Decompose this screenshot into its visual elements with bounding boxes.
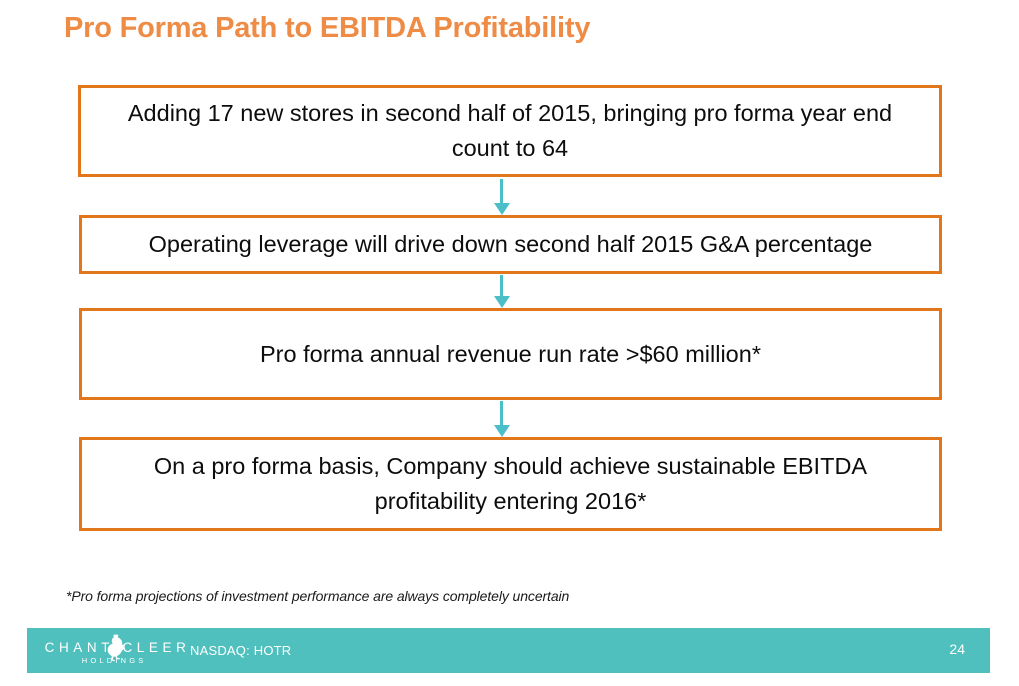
chanticleer-logo: CHANTICLEER HOLDINGS [40,634,185,668]
flow-box-4-text: On a pro forma basis, Company should ach… [104,449,917,519]
arrow-down-icon-3 [494,401,510,437]
arrow-head [494,425,510,437]
flow-box-1-text: Adding 17 new stores in second half of 2… [103,96,917,166]
flow-box-3-text: Pro forma annual revenue run rate >$60 m… [104,337,917,372]
flow-box-2: Operating leverage will drive down secon… [79,215,942,274]
footnote: *Pro forma projections of investment per… [66,588,569,604]
slide: Pro Forma Path to EBITDA Profitability A… [0,0,1019,686]
arrow-shaft [500,275,503,297]
flow-diagram: Adding 17 new stores in second half of 2… [0,0,1019,560]
page-number: 24 [949,641,965,657]
flow-box-4: On a pro forma basis, Company should ach… [79,437,942,531]
footer-bar: CHANTICLEER HOLDINGS NASDAQ: HOTR 24 [27,628,990,673]
arrow-head [494,203,510,215]
arrow-shaft [500,179,503,204]
rooster-icon [102,634,128,664]
nasdaq-ticker: NASDAQ: HOTR [190,643,291,658]
flow-box-2-text: Operating leverage will drive down secon… [104,227,917,262]
flow-box-1: Adding 17 new stores in second half of 2… [78,85,942,177]
arrow-down-icon-1 [494,179,510,215]
arrow-down-icon-2 [494,275,510,308]
arrow-shaft [500,401,503,426]
arrow-head [494,296,510,308]
flow-box-3: Pro forma annual revenue run rate >$60 m… [79,308,942,400]
